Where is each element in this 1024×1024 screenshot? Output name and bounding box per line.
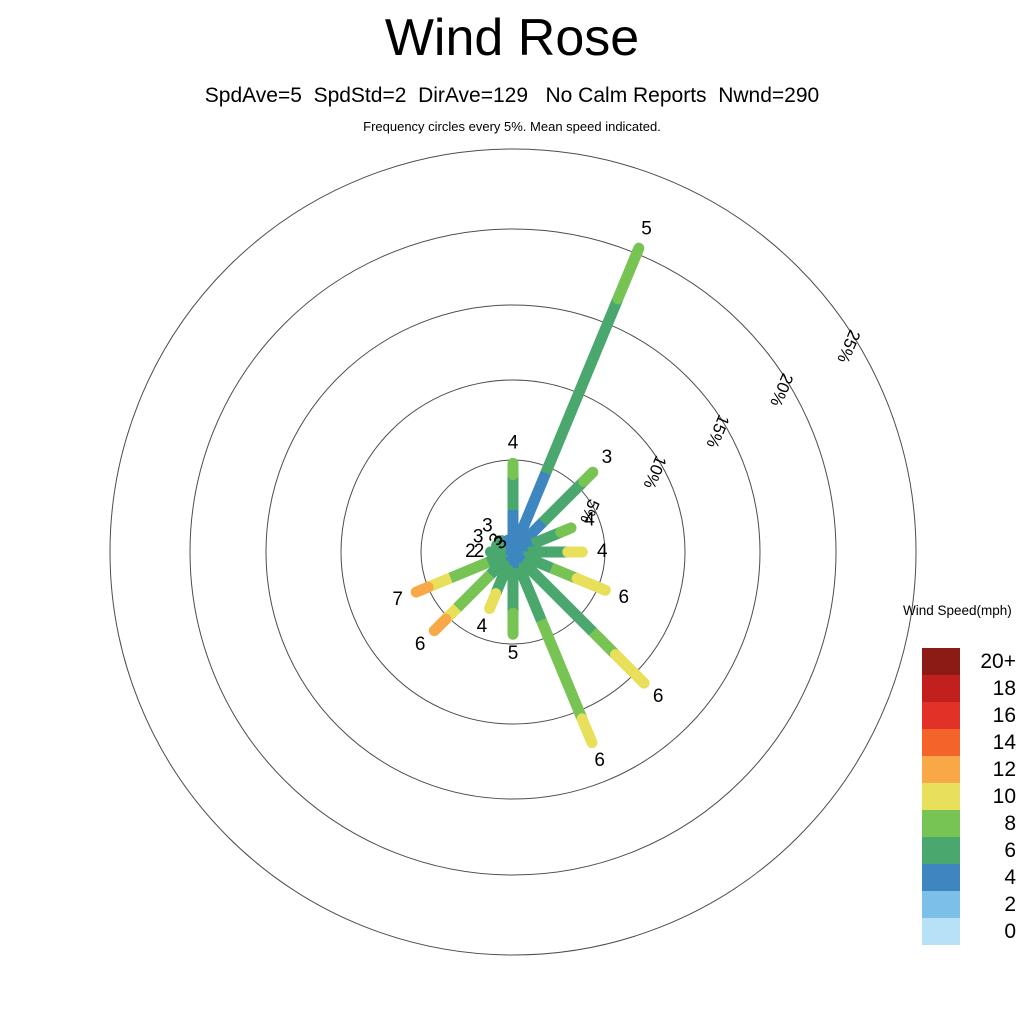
legend-label: 16 bbox=[960, 702, 1016, 729]
legend-item[interactable]: 2 bbox=[922, 891, 1016, 918]
wind-rose-figure: Wind Rose SpdAve=5 SpdStd=2 DirAve=129 N… bbox=[0, 0, 1024, 1024]
legend-item[interactable]: 8 bbox=[922, 810, 1016, 837]
legend-item[interactable]: 0 bbox=[922, 918, 1016, 945]
wind-rose-plot: 453446665467233233 5%10%15%20%25% bbox=[0, 0, 1024, 1024]
petal-segment bbox=[490, 594, 496, 609]
petal-segment bbox=[584, 472, 593, 481]
legend-item[interactable]: 6 bbox=[922, 837, 1016, 864]
petal-segment bbox=[561, 528, 571, 532]
legend-label: 6 bbox=[960, 837, 1016, 864]
ring-label: 15% bbox=[702, 412, 733, 451]
legend-swatch bbox=[922, 675, 960, 702]
wind-petals bbox=[416, 248, 644, 742]
petal-segment bbox=[577, 579, 605, 591]
legend-swatch bbox=[922, 810, 960, 837]
ring-label: 25% bbox=[833, 327, 864, 366]
page-title: Wind Rose bbox=[0, 8, 1024, 68]
legend-swatch bbox=[922, 756, 960, 783]
legend-swatch bbox=[922, 702, 960, 729]
petal-segment bbox=[416, 587, 428, 592]
legend-item[interactable]: 16 bbox=[922, 702, 1016, 729]
petal-mean-speed-label: 6 bbox=[653, 686, 664, 707]
legend-label: 18 bbox=[960, 675, 1016, 702]
petal-mean-speed-label: 4 bbox=[508, 432, 519, 453]
petal-mean-speed-label: 3 bbox=[602, 447, 613, 468]
legend-item[interactable]: 20+ bbox=[922, 648, 1016, 675]
legend-swatch bbox=[922, 648, 960, 675]
legend-item[interactable]: 14 bbox=[922, 729, 1016, 756]
petal-mean-speed-label: 6 bbox=[415, 634, 426, 655]
ring-label: 20% bbox=[766, 371, 797, 410]
legend-swatch bbox=[922, 729, 960, 756]
petal-mean-speed-label: 7 bbox=[392, 589, 403, 610]
petal-mean-speed-label: 2 bbox=[474, 541, 485, 562]
ring-label: 10% bbox=[639, 453, 670, 492]
legend-label: 0 bbox=[960, 918, 1016, 945]
petal-segment bbox=[457, 575, 490, 608]
petal-mean-speed-label: 5 bbox=[641, 219, 652, 240]
legend-swatch bbox=[922, 837, 960, 864]
legend-label: 14 bbox=[960, 729, 1016, 756]
petal-mean-speed-label: 5 bbox=[508, 643, 519, 664]
stats-subtitle: SpdAve=5 SpdStd=2 DirAve=129 No Calm Rep… bbox=[0, 84, 1024, 108]
petal-mean-speed-label: 4 bbox=[477, 616, 488, 637]
legend-item[interactable]: 12 bbox=[922, 756, 1016, 783]
legend-title: Wind Speed(mph) bbox=[903, 603, 1012, 618]
legend-color-scale: 20+181614121086420 bbox=[922, 648, 1016, 945]
petal-segment bbox=[618, 248, 639, 299]
legend-item[interactable]: 4 bbox=[922, 864, 1016, 891]
petal-mean-speed-label: 6 bbox=[594, 750, 605, 771]
legend-swatch bbox=[922, 783, 960, 810]
ring-percent-labels: 5%10%15%20%25% bbox=[576, 327, 864, 526]
legend-item[interactable]: 10 bbox=[922, 783, 1016, 810]
legend-label: 10 bbox=[960, 783, 1016, 810]
legend-label: 20+ bbox=[960, 648, 1016, 675]
petal-segment bbox=[541, 621, 582, 719]
petal-mean-speed-label: 4 bbox=[597, 541, 608, 562]
legend-label: 8 bbox=[960, 810, 1016, 837]
petal-mean-speed-label: 6 bbox=[619, 587, 630, 608]
legend-label: 12 bbox=[960, 756, 1016, 783]
legend-item[interactable]: 18 bbox=[922, 675, 1016, 702]
legend-swatch bbox=[922, 864, 960, 891]
petal-segment bbox=[582, 719, 592, 743]
frequency-note: Frequency circles every 5%. Mean speed i… bbox=[0, 119, 1024, 134]
legend-label: 2 bbox=[960, 891, 1016, 918]
ring-label: 5% bbox=[576, 496, 603, 526]
legend-swatch bbox=[922, 891, 960, 918]
petal-segment bbox=[434, 619, 445, 630]
legend-swatch bbox=[922, 918, 960, 945]
mean-speed-labels: 453446665467233233 bbox=[392, 219, 663, 771]
legend-label: 4 bbox=[960, 864, 1016, 891]
